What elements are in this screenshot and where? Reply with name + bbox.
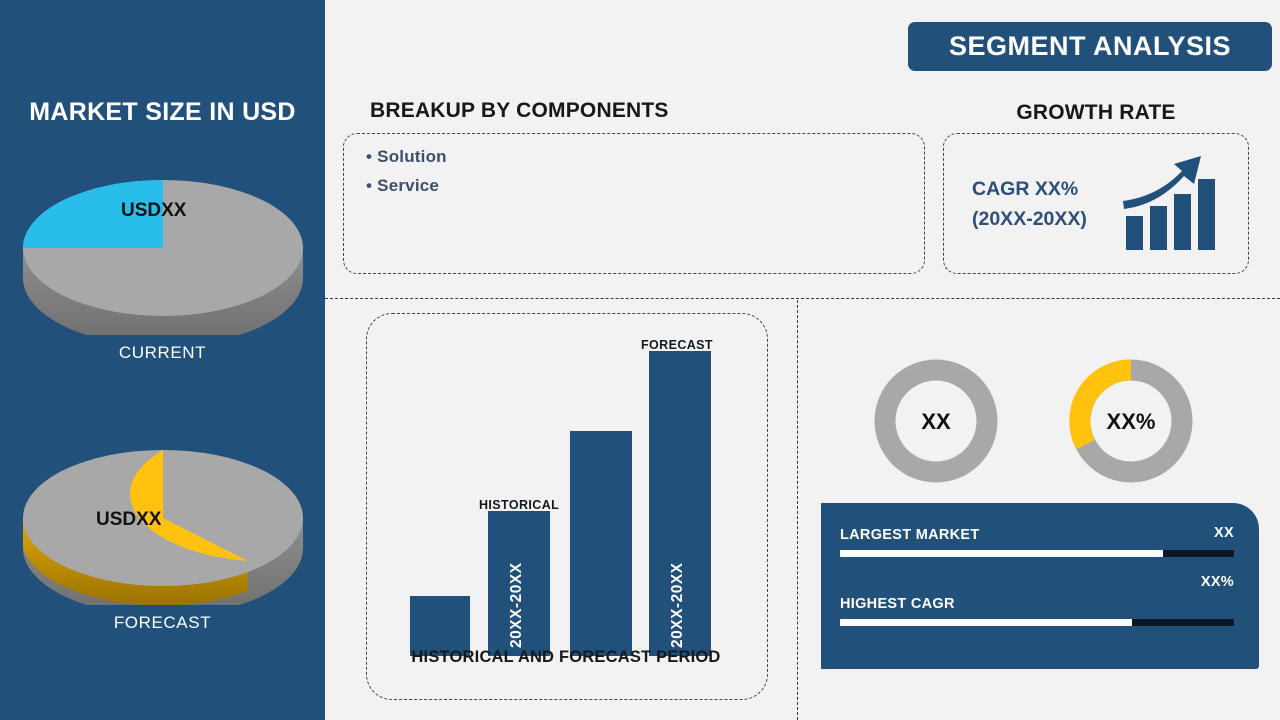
kpi-value: XX% [1201,574,1234,590]
forecast-pie-caption: FORECAST [0,613,325,633]
bar-chart-caption: HISTORICAL AND FORECAST PERIOD [366,648,766,667]
forecast-pie-block: USDXX FORECAST [0,430,325,633]
bar-4-period-label: 20XX-20XX [669,563,687,649]
page-title-text: SEGMENT ANALYSIS [949,31,1231,62]
forecast-pie-chart: USDXX [18,430,308,605]
sidebar-panel: MARKET SIZE IN USD USDXX CURRENT [0,0,325,720]
kpi-label: HIGHEST CAGR [840,596,955,612]
rising-bar-chart-arrow-icon [1122,154,1226,259]
kpi-progress-fill [840,619,1132,626]
horizontal-divider [325,298,1280,299]
bar-1 [410,596,470,656]
list-item: •Service [366,171,447,200]
kpi-label: LARGEST MARKET [840,527,980,543]
current-pie-slice-label: USDXX [121,200,187,221]
growth-card: CAGR XX% (20XX-20XX) [943,133,1249,274]
vertical-divider [797,300,798,720]
forecast-pie-slice-label: USDXX [96,509,162,530]
current-pie-caption: CURRENT [0,343,325,363]
list-item-label: Solution [377,147,447,166]
bar-4: 20XX-20XX [649,351,711,656]
bar-chart: 20XX-20XX HISTORICAL 20XX-20XX FORECAST … [366,313,766,698]
components-heading: BREAKUP BY COMPONENTS [370,99,669,123]
bar-2: 20XX-20XX [488,511,550,656]
list-item-label: Service [377,176,439,195]
cagr-text: CAGR XX% (20XX-20XX) [972,174,1087,234]
bar-4-annotation: FORECAST [641,338,713,352]
cagr-value-line: CAGR XX% [972,174,1087,204]
kpi-progress-track [840,619,1234,626]
kpi-progress-track [840,550,1234,557]
list-item: •Solution [366,142,447,171]
growth-heading: GROWTH RATE [941,101,1251,125]
current-pie-chart: USDXX [18,160,308,335]
infographic-page: MARKET SIZE IN USD USDXX CURRENT [0,0,1280,720]
market-donut-1: XX [872,357,1000,490]
bullet-icon: • [366,147,372,166]
kpi-panel: LARGEST MARKET XX HIGHEST CAGR XX% [821,503,1259,669]
kpi-progress-fill [840,550,1163,557]
header-band: SEGMENT ANALYSIS imarc IMPACTFUL INSIGHT… [325,0,1280,90]
bar-3 [570,431,632,656]
market-donut-2: XX% [1067,357,1195,490]
bar-2-period-label: 20XX-20XX [508,563,526,649]
components-card: •Solution •Service [343,133,925,274]
bullet-icon: • [366,176,372,195]
sidebar-title: MARKET SIZE IN USD [0,98,325,127]
components-list: •Solution •Service [366,142,447,200]
bar-2-annotation: HISTORICAL [479,498,559,512]
current-pie-block: USDXX CURRENT [0,160,325,363]
market-donut-2-label: XX% [1107,409,1156,434]
cagr-period-line: (20XX-20XX) [972,204,1087,234]
kpi-value: XX [1214,525,1234,541]
market-donut-1-label: XX [921,409,951,434]
page-title: SEGMENT ANALYSIS [908,22,1272,71]
